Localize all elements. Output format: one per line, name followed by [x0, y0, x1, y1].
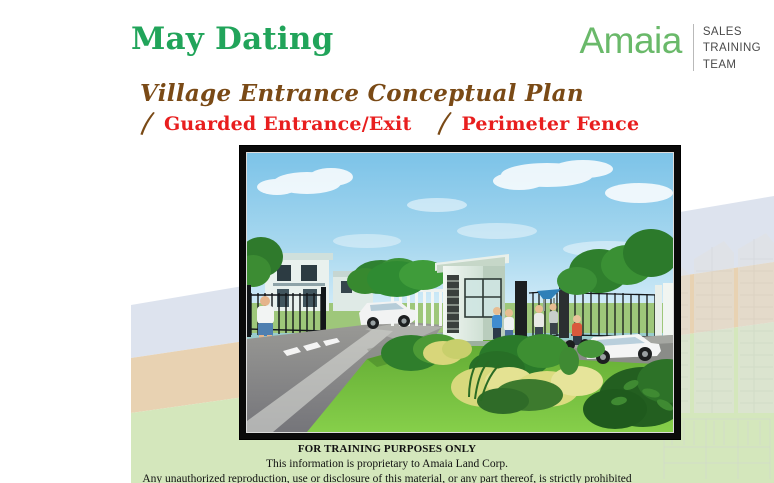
rendering-frame: Village entrance conceptual plan renderi…	[240, 146, 680, 439]
logo-divider	[693, 24, 694, 71]
amaia-wordmark: Amaia	[579, 22, 681, 59]
slash-tick-icon	[140, 112, 157, 136]
footer-line-1: FOR TRAINING PURPOSES ONLY	[0, 443, 774, 457]
logo-subtext: SALES TRAINING TEAM	[703, 22, 761, 73]
footer-line-3: Any unauthorized reproduction, use or di…	[0, 472, 774, 483]
slide: May Dating Amaia SALES TRAINING TEAM Vil…	[0, 0, 774, 483]
feature-label: Guarded Entrance/Exit	[164, 113, 411, 135]
feature-item-perimeter-fence: Perimeter Fence	[437, 112, 639, 136]
footer-line-2: This information is proprietary to Amaia…	[0, 457, 774, 472]
logo-subtext-line-3: TEAM	[703, 57, 761, 73]
slide-subtitle: Village Entrance Conceptual Plan	[140, 80, 584, 107]
slash-tick-icon	[437, 112, 454, 136]
village-entrance-rendering: Village entrance conceptual plan renderi…	[247, 153, 673, 432]
feature-label: Perimeter Fence	[461, 113, 639, 135]
logo-subtext-line-2: TRAINING	[703, 40, 761, 56]
feature-list: Guarded Entrance/Exit Perimeter Fence	[140, 112, 639, 136]
logo-subtext-line-1: SALES	[703, 24, 761, 40]
page-title: May Dating	[131, 21, 334, 57]
footer: FOR TRAINING PURPOSES ONLY This informat…	[0, 443, 774, 483]
feature-item-guarded-entrance: Guarded Entrance/Exit	[140, 112, 411, 136]
amaia-logo: Amaia SALES TRAINING TEAM	[579, 22, 761, 73]
rendering-frame-inner: Village entrance conceptual plan renderi…	[246, 152, 674, 433]
